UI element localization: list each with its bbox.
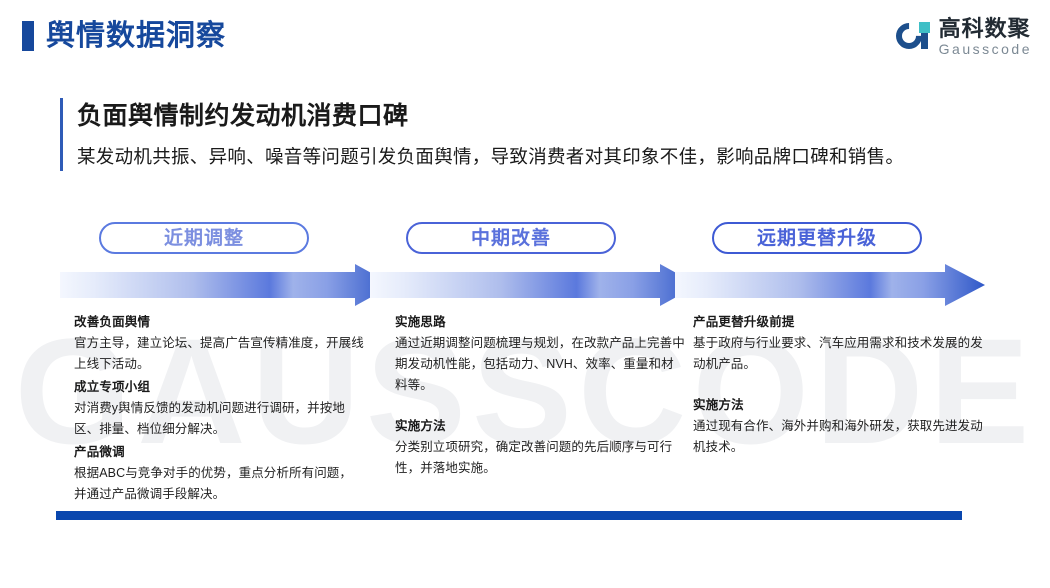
detail-block: 实施方法 通过现有合作、海外并购和海外研发，获取先进发动机技术。 xyxy=(693,395,983,458)
heading-block: 负面舆情制约发动机消费口碑 某发动机共振、异响、噪音等问题引发负面舆情，导致消费… xyxy=(60,98,1020,171)
company-logo: 高科数聚 Gausscode xyxy=(896,14,1032,60)
timeline-arrow xyxy=(60,262,985,308)
detail-column-mid-term: 实施思路 通过近期调整问题梳理与规划，在改款产品上完善中期发动机性能，包括动力、… xyxy=(395,312,685,481)
detail-column-near-term: 改善负面舆情 官方主导，建立论坛、提高广告宣传精准度，开展线上线下活动。 成立专… xyxy=(74,312,364,507)
arrow-segment-3 xyxy=(675,264,985,306)
arrow-segment-2 xyxy=(370,264,698,306)
block-spacer xyxy=(693,377,983,395)
stage-pill-mid-term[interactable]: 中期改善 xyxy=(406,222,616,254)
detail-block-body: 基于政府与行业要求、汽车应用需求和技术发展的发动机产品。 xyxy=(693,333,983,375)
arrow-segment-1 xyxy=(60,264,393,306)
detail-block: 产品微调 根据ABC与竞争对手的优势，重点分析所有问题，并通过产品微调手段解决。 xyxy=(74,442,364,505)
logo-text: 高科数聚 Gausscode xyxy=(939,17,1032,58)
detail-block-title: 产品微调 xyxy=(74,442,364,463)
detail-block-title: 实施方法 xyxy=(395,416,685,437)
detail-block: 实施思路 通过近期调整问题梳理与规划，在改款产品上完善中期发动机性能，包括动力、… xyxy=(395,312,685,396)
section-subtitle: 某发动机共振、异响、噪音等问题引发负面舆情，导致消费者对其印象不佳，影响品牌口碑… xyxy=(77,143,1020,171)
page-title: 舆情数据洞察 xyxy=(46,16,226,56)
detail-block-body: 官方主导，建立论坛、提高广告宣传精准度，开展线上线下活动。 xyxy=(74,333,364,375)
logo-stem-shape xyxy=(921,33,928,49)
stage-pill-near-term[interactable]: 近期调整 xyxy=(99,222,309,254)
detail-block-title: 实施方法 xyxy=(693,395,983,416)
logo-name-en: Gausscode xyxy=(939,41,1032,58)
gausscode-logo-icon xyxy=(896,20,930,54)
logo-name-cn: 高科数聚 xyxy=(939,17,1032,41)
detail-block-title: 产品更替升级前提 xyxy=(693,312,983,333)
detail-block-body: 分类别立项研究，确定改善问题的先后顺序与可行性，并落地实施。 xyxy=(395,437,685,479)
detail-block: 改善负面舆情 官方主导，建立论坛、提高广告宣传精准度，开展线上线下活动。 xyxy=(74,312,364,375)
logo-square-shape xyxy=(919,22,930,33)
detail-block-body: 通过现有合作、海外并购和海外研发，获取先进发动机技术。 xyxy=(693,416,983,458)
detail-columns: 改善负面舆情 官方主导，建立论坛、提高广告宣传精准度，开展线上线下活动。 成立专… xyxy=(60,312,1020,502)
detail-block-body: 根据ABC与竞争对手的优势，重点分析所有问题，并通过产品微调手段解决。 xyxy=(74,463,364,505)
detail-column-long-term: 产品更替升级前提 基于政府与行业要求、汽车应用需求和技术发展的发动机产品。 实施… xyxy=(693,312,983,460)
detail-block: 产品更替升级前提 基于政府与行业要求、汽车应用需求和技术发展的发动机产品。 xyxy=(693,312,983,375)
block-spacer xyxy=(395,398,685,416)
detail-block: 成立专项小组 对消费y舆情反馈的发动机问题进行调研，并按地区、排量、档位细分解决… xyxy=(74,377,364,440)
detail-block-body: 通过近期调整问题梳理与规划，在改款产品上完善中期发动机性能，包括动力、NVH、效… xyxy=(395,333,685,396)
stage-pill-long-term[interactable]: 远期更替升级 xyxy=(712,222,922,254)
header-marker-icon xyxy=(22,21,34,51)
detail-block-title: 实施思路 xyxy=(395,312,685,333)
detail-block: 实施方法 分类别立项研究，确定改善问题的先后顺序与可行性，并落地实施。 xyxy=(395,416,685,479)
page-header: 舆情数据洞察 高科数聚 Gausscode xyxy=(0,0,1050,72)
detail-block-title: 改善负面舆情 xyxy=(74,312,364,333)
section-title: 负面舆情制约发动机消费口碑 xyxy=(77,98,1020,134)
detail-block-title: 成立专项小组 xyxy=(74,377,364,398)
footer-accent-bar xyxy=(56,511,962,520)
detail-block-body: 对消费y舆情反馈的发动机问题进行调研，并按地区、排量、档位细分解决。 xyxy=(74,398,364,440)
